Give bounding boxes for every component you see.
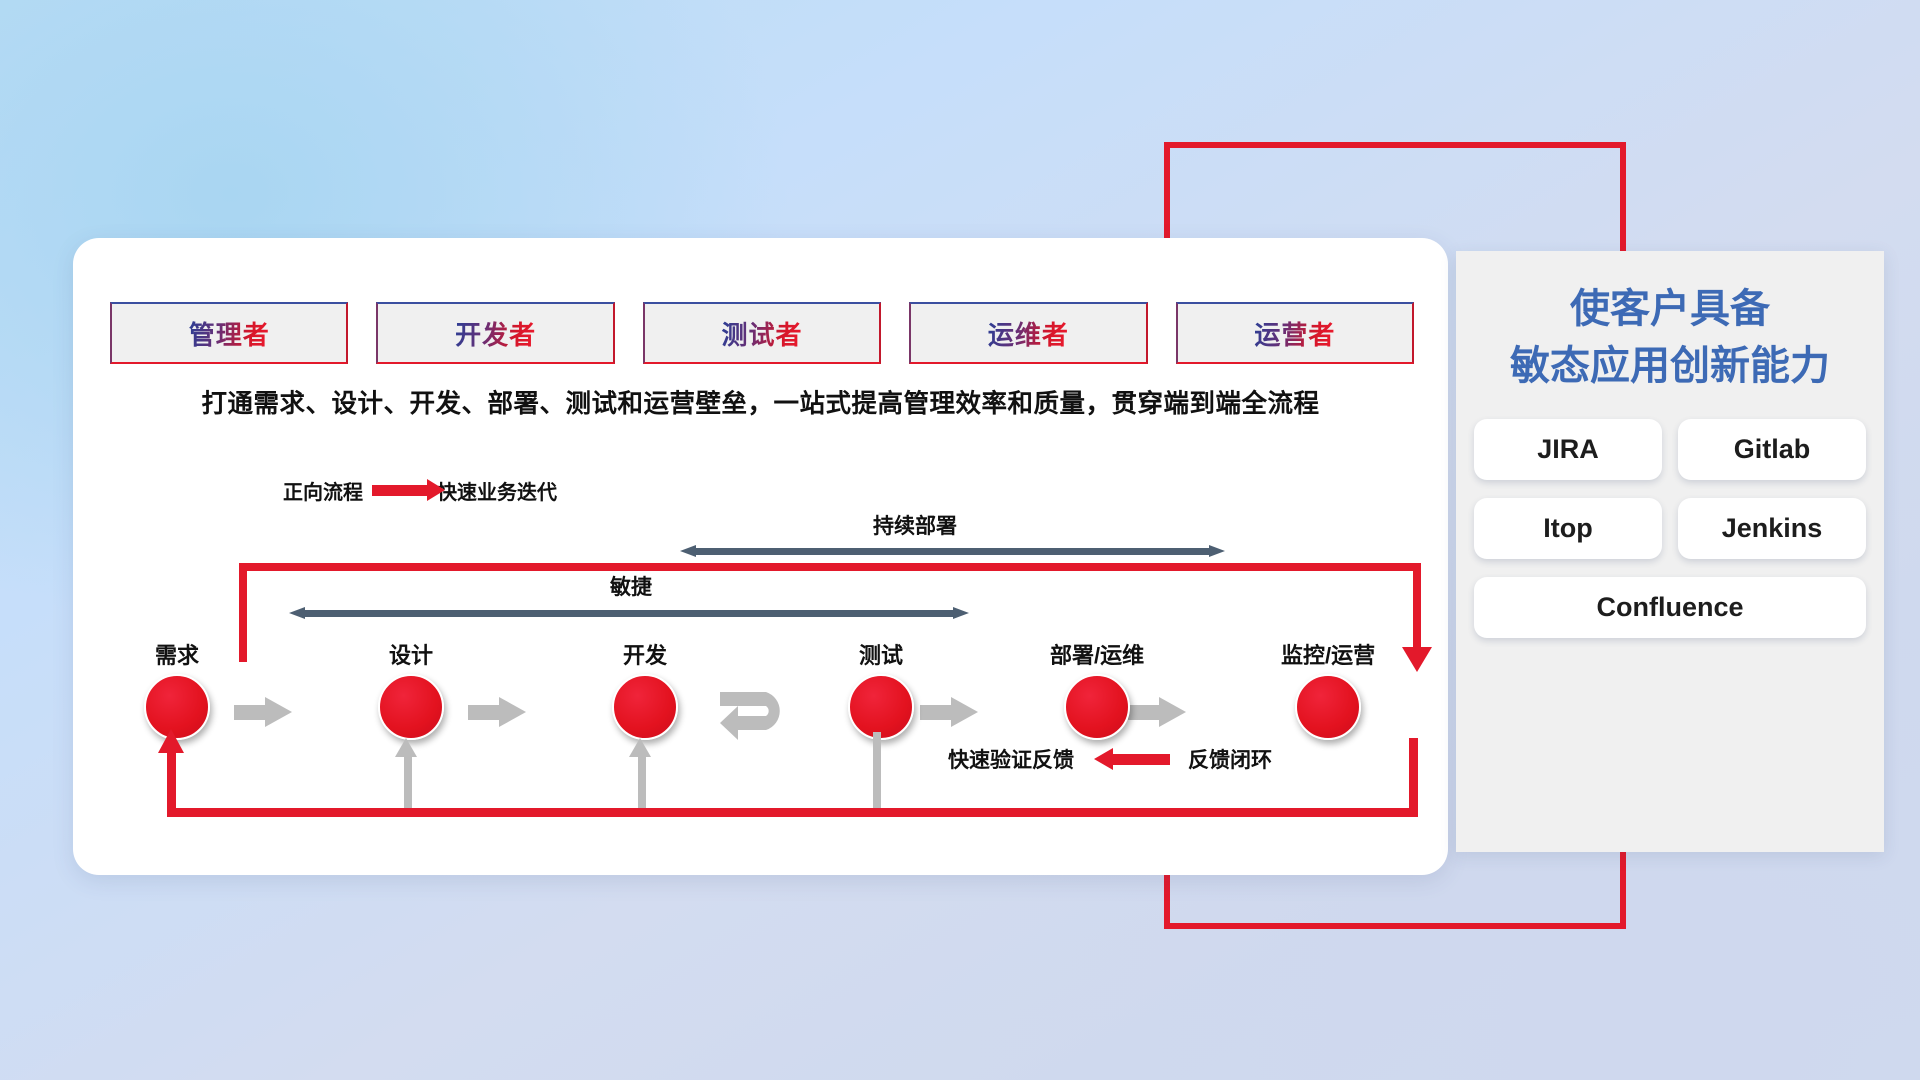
feedback-arrow-up-icon [158, 729, 184, 753]
pipeline-stage-monitor-operate[interactable]: 监控/运营 [1281, 638, 1375, 740]
legend-feedback-loop: 快速验证反馈 反馈闭环 [948, 744, 1272, 774]
stage-node-icon [612, 674, 678, 740]
tool-chip-gitlab[interactable]: Gitlab [1678, 419, 1866, 480]
panel-title-line1: 使客户具备 [1456, 281, 1884, 338]
span-label-agile: 敏捷 [610, 571, 652, 601]
roles-row: 管理者 开发者 测试者 运维者 运营者 [110, 302, 1414, 364]
role-box-ops[interactable]: 运维者 [909, 302, 1147, 364]
arrow-left-icon [1112, 754, 1170, 765]
span-label-continuous-deployment: 持续部署 [873, 510, 957, 540]
stage-label: 开发 [612, 638, 678, 670]
stage-node-icon [848, 674, 914, 740]
tool-chip-confluence[interactable]: Confluence [1474, 577, 1866, 638]
tool-chip-itop[interactable]: Itop [1474, 498, 1662, 559]
role-box-operations[interactable]: 运营者 [1176, 302, 1414, 364]
role-label: 管理者 [189, 315, 270, 352]
continuous-deployment-span-arrow [680, 545, 1225, 558]
legend-feedback-right-label: 反馈闭环 [1188, 744, 1272, 774]
tagline-text: 打通需求、设计、开发、部署、测试和运营壁垒，一站式提高管理效率和质量，贯穿端到端… [73, 383, 1448, 420]
pipeline-stage-requirement[interactable]: 需求 [144, 638, 210, 740]
feedback-left-segment [167, 750, 176, 817]
stage-node-icon [1064, 674, 1130, 740]
role-label: 测试者 [722, 315, 803, 352]
feedback-riser-test [873, 732, 881, 809]
red-loop-right-segment [1413, 563, 1421, 651]
feedback-riser-develop [638, 756, 646, 809]
stage-label: 监控/运营 [1281, 638, 1375, 670]
arrow-head-right-icon [1209, 545, 1225, 557]
legend-forward-right-label: 快速业务迭代 [437, 476, 557, 505]
stage-label: 部署/运维 [1050, 638, 1144, 670]
pipeline-stage-develop[interactable]: 开发 [612, 638, 678, 740]
arrow-bar [303, 610, 955, 617]
stage-node-icon [378, 674, 444, 740]
main-content-card: 管理者 开发者 测试者 运维者 运营者 打通需求、设计、开发、部署、测试和运营壁… [73, 238, 1448, 875]
feedback-riser-head-develop-icon [629, 738, 651, 757]
role-label: 运维者 [988, 315, 1069, 352]
legend-feedback-left-label: 快速验证反馈 [948, 744, 1074, 774]
legend-forward-left-label: 正向流程 [283, 476, 363, 505]
feedback-bottom-segment [167, 808, 1418, 817]
tool-chip-jira[interactable]: JIRA [1474, 419, 1662, 480]
panel-title-line2: 敏态应用创新能力 [1456, 338, 1884, 395]
agile-span-arrow [289, 607, 969, 620]
stage-label: 需求 [144, 638, 210, 670]
value-proposition-panel: 使客户具备 敏态应用创新能力 JIRA Gitlab Itop Jenkins … [1456, 251, 1884, 852]
feedback-right-segment [1409, 738, 1418, 817]
red-loop-top-segment [239, 563, 1421, 571]
role-label: 运营者 [1254, 315, 1335, 352]
arrow-bar [694, 548, 1211, 555]
role-label: 开发者 [455, 315, 536, 352]
pipeline-stage-test[interactable]: 测试 [848, 638, 914, 740]
panel-title: 使客户具备 敏态应用创新能力 [1456, 281, 1884, 395]
tool-chip-jenkins[interactable]: Jenkins [1678, 498, 1866, 559]
slide-canvas: 管理者 开发者 测试者 运维者 运营者 打通需求、设计、开发、部署、测试和运营壁… [0, 0, 1920, 1080]
role-box-developer[interactable]: 开发者 [376, 302, 614, 364]
stage-label: 设计 [378, 638, 444, 670]
arrow-head-right-icon [953, 607, 969, 619]
feedback-riser-head-design-icon [395, 738, 417, 757]
feedback-riser-design [404, 756, 412, 809]
pipeline-stage-deploy-ops[interactable]: 部署/运维 [1050, 638, 1144, 740]
stage-label: 测试 [848, 638, 914, 670]
legend-forward-flow: 正向流程 快速业务迭代 [283, 476, 557, 505]
tool-chip-grid: JIRA Gitlab Itop Jenkins Confluence [1474, 419, 1866, 638]
stage-node-icon [1295, 674, 1361, 740]
role-box-manager[interactable]: 管理者 [110, 302, 348, 364]
arrow-right-icon [372, 485, 428, 496]
pipeline-stage-design[interactable]: 设计 [378, 638, 444, 740]
role-box-tester[interactable]: 测试者 [643, 302, 881, 364]
